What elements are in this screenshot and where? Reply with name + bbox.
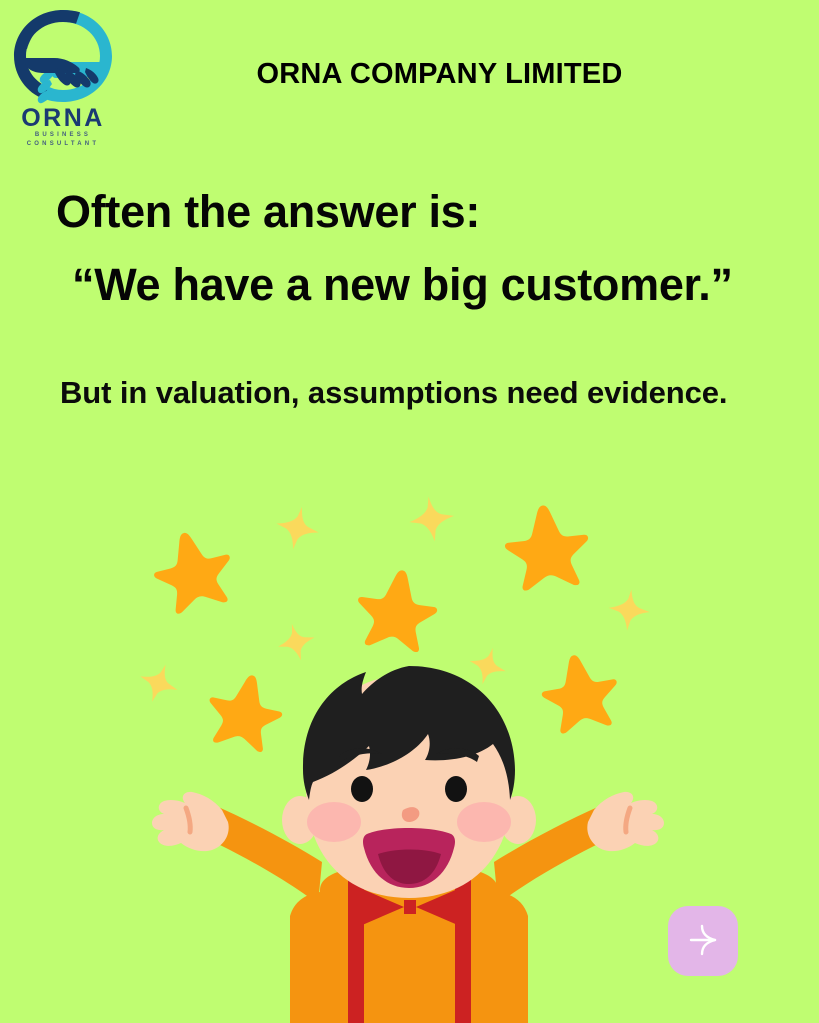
left-eye [351, 776, 373, 802]
logo-wordmark: ORNA [4, 106, 122, 131]
slide-canvas: ORNA BUSINESS CONSULTANT ORNA COMPANY LI… [0, 0, 819, 1023]
logo-tagline-line1: BUSINESS [4, 131, 122, 140]
shirt-right-shoulder [498, 892, 528, 1023]
left-cheek [307, 802, 361, 842]
subcopy-text: But in valuation, assumptions need evide… [60, 362, 740, 424]
headline-line-2: “We have a new big customer.” [56, 249, 816, 322]
handshake-circle-logo-icon [8, 4, 118, 108]
right-eye [445, 776, 467, 802]
arrow-right-icon [683, 920, 723, 963]
headline-line-1: Often the answer is: [56, 186, 480, 237]
headline: Often the answer is: “We have a new big … [56, 176, 816, 322]
company-title: ORNA COMPANY LIMITED [0, 58, 819, 91]
logo-tagline-line2: CONSULTANT [4, 140, 122, 149]
next-arrow-button[interactable] [668, 906, 738, 976]
right-cheek [457, 802, 511, 842]
shirt-left-shoulder [290, 892, 320, 1023]
logo-tagline: BUSINESS CONSULTANT [4, 131, 122, 148]
